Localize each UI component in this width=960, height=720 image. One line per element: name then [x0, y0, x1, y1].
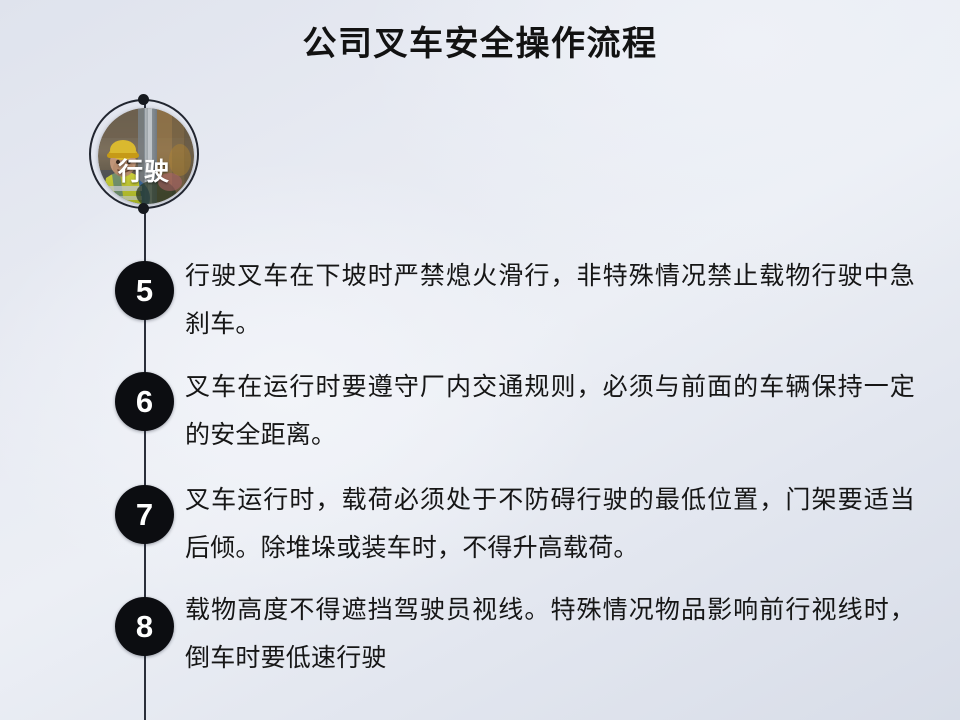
ring-dot-top-icon: [138, 94, 149, 105]
step-text-7: 叉车运行时，载荷必须处于不防碍行驶的最低位置，门架要适当后倾。除堆垛或装车时，不…: [185, 476, 915, 572]
step-text-8: 载物高度不得遮挡驾驶员视线。特殊情况物品影响前行视线时，倒车时要低速行驶: [185, 586, 915, 682]
hero-photo-node: 行驶: [89, 99, 203, 213]
step-text-6: 叉车在运行时要遵守厂内交通规则，必须与前面的车辆保持一定的安全距离。: [185, 363, 915, 459]
step-badge-6: 6: [115, 372, 174, 431]
ring-dot-bottom-icon: [138, 203, 149, 214]
hero-ring-outline: [89, 99, 199, 209]
step-badge-7: 7: [115, 485, 174, 544]
step-badge-5: 5: [115, 261, 174, 320]
page-title: 公司叉车安全操作流程: [0, 22, 960, 66]
slide-canvas: 公司叉车安全操作流程: [0, 0, 960, 720]
step-badge-8: 8: [115, 597, 174, 656]
step-text-5: 行驶叉车在下坡时严禁熄火滑行，非特殊情况禁止载物行驶中急刹车。: [185, 252, 915, 348]
